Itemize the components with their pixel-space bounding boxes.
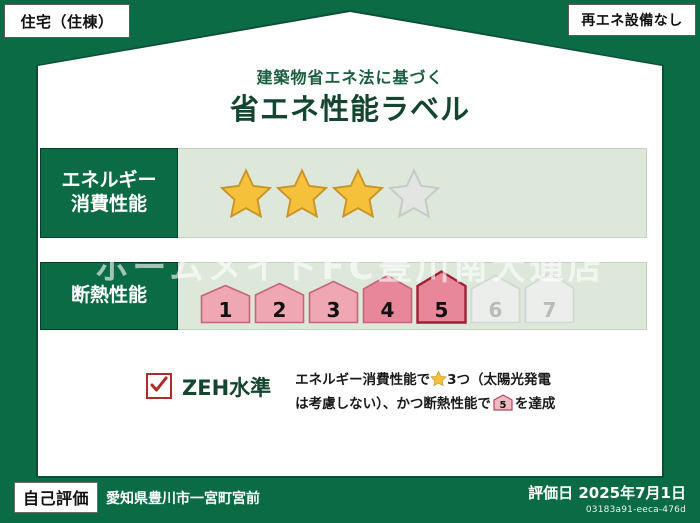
star-filled-icon: [332, 167, 384, 219]
insulation-grade-7: 7: [524, 272, 575, 324]
label-subtitle: 建築物省エネ法に基づく: [0, 64, 700, 88]
zeh-description-line1: エネルギー消費性能で3つ（太陽光発電: [295, 370, 555, 394]
insulation-performance-row: 断熱性能 1234567: [40, 262, 647, 330]
zeh-description-line2: は考慮しない）、かつ断熱性能で5を達成: [295, 394, 555, 415]
zeh-desc-text-c: は考慮しない）、かつ断熱性能で: [295, 396, 491, 412]
label-title: 省エネ性能ラベル: [0, 86, 700, 128]
footer-left-group: 自己評価 愛知県豊川市一宮町宮前: [14, 482, 260, 513]
insulation-grade-number: 6: [489, 300, 503, 320]
insulation-grade-number: 7: [543, 300, 557, 320]
star-empty-icon: [388, 167, 440, 219]
energy-consumption-label-line2: 消費性能: [71, 193, 147, 217]
insulation-grade-number: 3: [327, 300, 341, 320]
insulation-grade-2: 2: [254, 282, 305, 324]
insulation-grade-4: 4: [362, 274, 413, 324]
insulation-performance-label-line1: 断熱性能: [71, 284, 147, 308]
insulation-grade-6: 6: [470, 274, 521, 324]
energy-consumption-label: エネルギー 消費性能: [40, 148, 178, 238]
evaluation-date: 評価日 2025年7月1日: [528, 482, 686, 503]
energy-performance-label: 住宅（住棟） 再エネ設備なし 建築物省エネ法に基づく 省エネ性能ラベル エネルギ…: [0, 0, 700, 523]
energy-consumption-row: エネルギー 消費性能: [40, 148, 647, 238]
inline-grade-badge: 5: [493, 394, 513, 409]
star-filled-icon: [276, 167, 328, 219]
building-type-tag: 住宅（住棟）: [4, 4, 130, 38]
star-rating: [220, 167, 440, 219]
evaluation-id: 03183a91-eeca-476d: [528, 505, 686, 515]
footer-right-group: 評価日 2025年7月1日 03183a91-eeca-476d: [528, 482, 686, 515]
insulation-grade-number: 1: [219, 300, 233, 320]
renewable-energy-tag: 再エネ設備なし: [568, 4, 696, 36]
insulation-performance-label: 断熱性能: [40, 262, 178, 330]
insulation-performance-value: 1234567: [178, 262, 647, 330]
property-address: 愛知県豊川市一宮町宮前: [106, 488, 260, 508]
insulation-grade-5: 5: [416, 270, 467, 324]
insulation-grade-number: 2: [273, 300, 287, 320]
svg-text:5: 5: [499, 400, 506, 411]
energy-consumption-value: [178, 148, 647, 238]
zeh-desc-text-b: 3つ（太陽光発電: [447, 372, 551, 388]
check-icon: [149, 375, 169, 395]
zeh-checkbox: [146, 373, 172, 399]
insulation-grade-number: 4: [381, 300, 395, 320]
evaluation-type-badge: 自己評価: [14, 482, 98, 513]
insulation-grade-scale: 1234567: [200, 268, 575, 324]
zeh-standard-title: ZEH水準: [182, 372, 271, 402]
zeh-standard-block: ZEH水準 エネルギー消費性能で3つ（太陽光発電 は考慮しない）、かつ断熱性能で…: [146, 370, 555, 415]
insulation-grade-number: 5: [435, 300, 449, 320]
zeh-standard-description: エネルギー消費性能で3つ（太陽光発電 は考慮しない）、かつ断熱性能で5を達成: [295, 370, 555, 415]
zeh-desc-text-a: エネルギー消費性能で: [295, 372, 430, 388]
energy-consumption-label-line1: エネルギー: [61, 169, 156, 193]
inline-star-icon: [430, 370, 447, 394]
insulation-grade-1: 1: [200, 284, 251, 324]
star-filled-icon: [220, 167, 272, 219]
insulation-grade-3: 3: [308, 280, 359, 324]
zeh-desc-text-d: を達成: [515, 396, 556, 412]
